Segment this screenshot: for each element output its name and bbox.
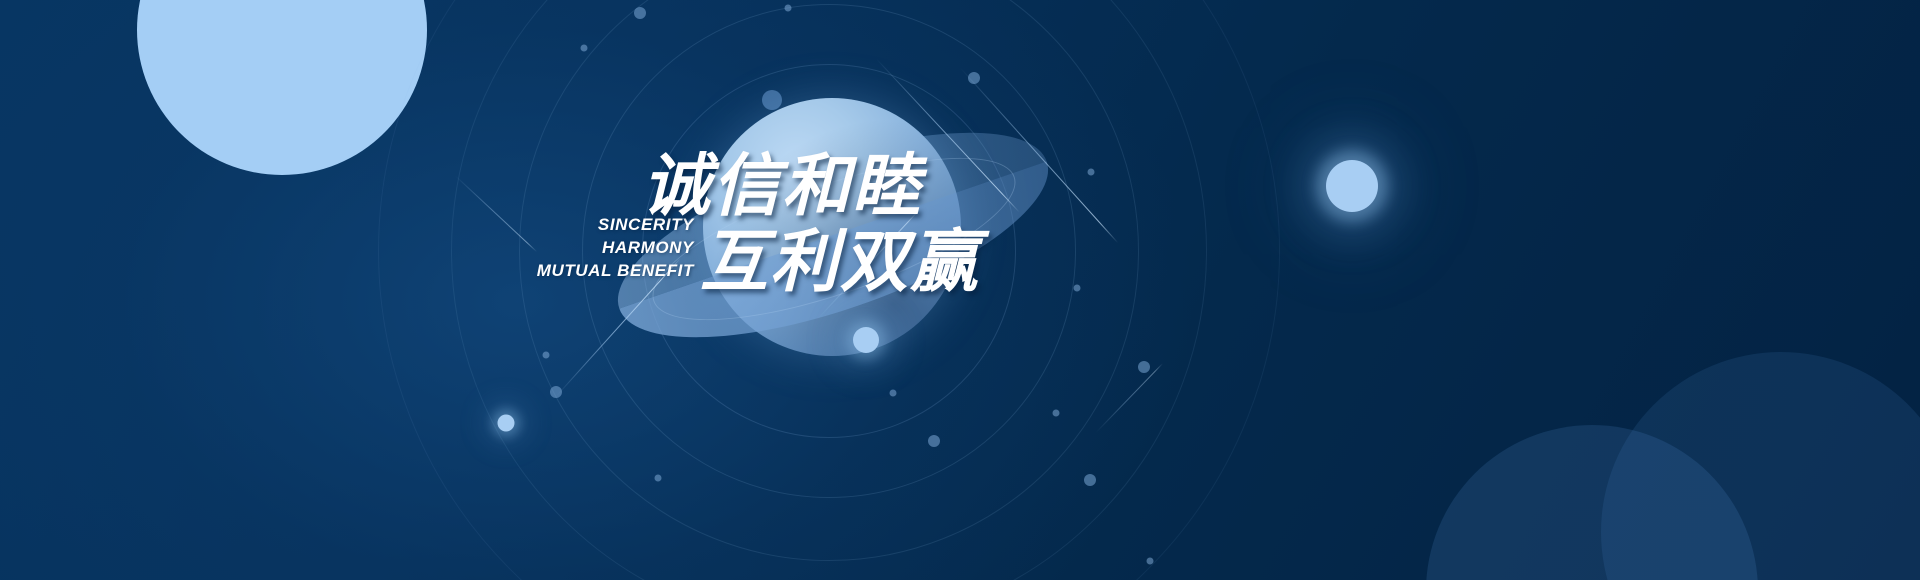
orbit-node-9 [1138, 361, 1150, 373]
orbit-node-10 [890, 390, 897, 397]
subheadline-line-3: MUTUAL BENEFIT [530, 259, 694, 282]
orb-left-small [498, 415, 515, 432]
subheadline-line-2: HARMONY [530, 236, 694, 259]
orb-right-large [1326, 160, 1378, 212]
promo-banner: SINCERITY HARMONY MUTUAL BENEFIT 诚信和睦 互利… [0, 0, 1920, 580]
orb-planet-edge [853, 327, 879, 353]
orbit-node-16 [1088, 169, 1095, 176]
orbit-node-11 [928, 435, 940, 447]
orbit-node-6 [1074, 285, 1081, 292]
orbit-node-3 [634, 7, 646, 19]
headline-line-1: 诚信和睦 [642, 152, 922, 220]
orbit-node-4 [581, 45, 588, 52]
orbit-node-8 [1084, 474, 1096, 486]
orbit-node-1 [785, 5, 792, 12]
headline-line-2: 互利双赢 [700, 228, 980, 296]
orbit-node-12 [655, 475, 662, 482]
orbit-node-7 [1053, 410, 1060, 417]
orbit-node-15 [1147, 558, 1154, 565]
orbit-node-13 [543, 352, 550, 359]
banner-text-block: SINCERITY HARMONY MUTUAL BENEFIT 诚信和睦 互利… [530, 140, 1050, 310]
